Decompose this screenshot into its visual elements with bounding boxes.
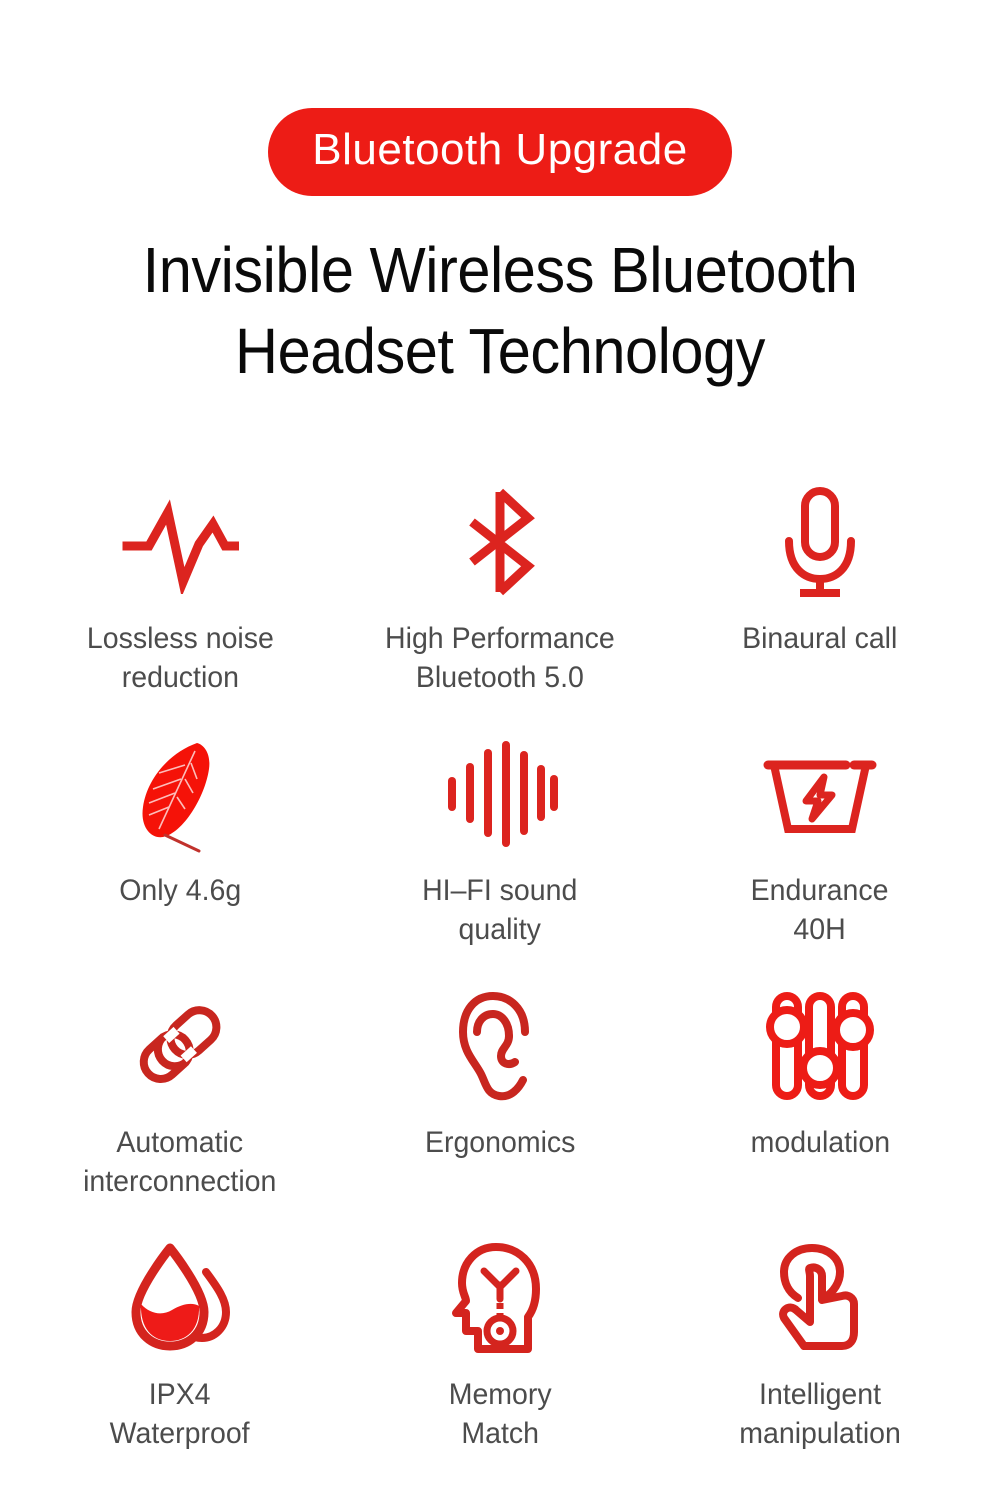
feature-item-binaural-call: Binaural call <box>660 483 980 735</box>
water-drop-icon <box>122 1239 238 1357</box>
feature-label-line-1: Endurance <box>751 871 889 910</box>
sliders-icon <box>764 987 876 1105</box>
feature-label: Lossless noise reduction <box>87 619 274 697</box>
page-title-line-2: Headset Technology <box>72 311 928 392</box>
feature-label-line-2: interconnection <box>83 1162 276 1201</box>
waveform-icon <box>121 483 239 601</box>
feature-label-line-2: quality <box>422 910 577 949</box>
microphone-icon <box>774 483 866 601</box>
feature-label-line-2: 40H <box>751 910 889 949</box>
feature-label-line-1: Lossless noise <box>87 619 274 658</box>
feature-label-line-1: Intelligent <box>739 1375 901 1414</box>
page-header: Bluetooth Upgrade Invisible Wireless Blu… <box>0 0 1000 391</box>
ear-icon <box>453 987 547 1105</box>
feature-label: Binaural call <box>742 619 897 658</box>
page-title-line-1: Invisible Wireless Bluetooth <box>72 230 928 311</box>
feature-item-only-4-6g: Only 4.6g <box>20 735 340 987</box>
feature-label-line-1: modulation <box>750 1123 889 1162</box>
feature-label: Automatic interconnection <box>83 1123 276 1201</box>
chain-link-icon <box>124 987 236 1105</box>
feature-label-line-1: High Performance <box>385 619 615 658</box>
feature-item-intelligent-manipulation: Intelligent manipulation <box>660 1239 980 1491</box>
feature-grid: Lossless noise reduction High Performanc… <box>20 483 980 1491</box>
feature-label-line-2: reduction <box>87 658 274 697</box>
feature-item-hifi-sound-quality: HI–FI sound quality <box>340 735 660 987</box>
head-memory-icon <box>450 1239 550 1357</box>
feature-label: Only 4.6g <box>119 871 241 910</box>
feature-label-line-1: Automatic <box>83 1123 276 1162</box>
feature-label: Endurance 40H <box>751 871 889 949</box>
feature-label-line-1: HI–FI sound <box>422 871 577 910</box>
feature-label: HI–FI sound quality <box>422 871 577 949</box>
feather-icon <box>125 735 235 853</box>
feature-item-memory-match: Memory Match <box>340 1239 660 1491</box>
feature-item-automatic-interconnection: Automatic interconnection <box>20 987 340 1239</box>
feature-label: modulation <box>750 1123 889 1162</box>
feature-item-endurance-40h: Endurance 40H <box>660 735 980 987</box>
touch-hand-icon <box>768 1239 872 1357</box>
feature-label: IPX4 Waterproof <box>110 1375 250 1453</box>
status-badge: Bluetooth Upgrade <box>268 108 731 196</box>
feature-label-line-1: Ergonomics <box>425 1123 575 1162</box>
feature-label-line-1: IPX4 <box>110 1375 250 1414</box>
feature-label: Ergonomics <box>425 1123 575 1162</box>
feature-label: Intelligent manipulation <box>739 1375 901 1453</box>
feature-item-ipx4-waterproof: IPX4 Waterproof <box>20 1239 340 1491</box>
bluetooth-icon <box>454 483 546 601</box>
feature-label-line-1: Memory <box>449 1375 552 1414</box>
feature-label: High Performance Bluetooth 5.0 <box>385 619 615 697</box>
page-title: Invisible Wireless Bluetooth Headset Tec… <box>72 230 928 391</box>
feature-item-lossless-noise-reduction: Lossless noise reduction <box>20 483 340 735</box>
feature-label-line-1: Binaural call <box>742 619 897 658</box>
feature-label-line-2: Bluetooth 5.0 <box>385 658 615 697</box>
feature-item-high-performance-bluetooth: High Performance Bluetooth 5.0 <box>340 483 660 735</box>
battery-bolt-icon <box>762 735 878 853</box>
feature-item-ergonomics: Ergonomics <box>340 987 660 1239</box>
feature-label: Memory Match <box>449 1375 552 1453</box>
feature-item-modulation: modulation <box>660 987 980 1239</box>
feature-label-line-1: Only 4.6g <box>119 871 241 910</box>
equalizer-icon <box>442 735 558 853</box>
feature-label-line-2: Waterproof <box>110 1414 250 1453</box>
feature-label-line-2: Match <box>449 1414 552 1453</box>
feature-label-line-2: manipulation <box>739 1414 901 1453</box>
